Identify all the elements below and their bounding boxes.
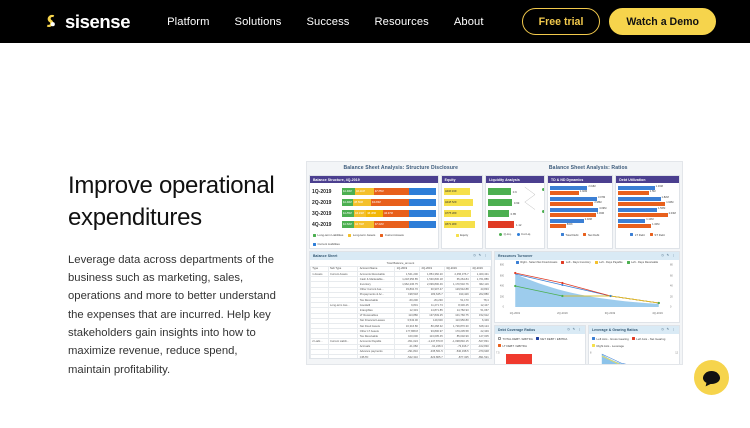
equity-legend: Equity	[442, 230, 482, 239]
legend-label: TOTAL DEBT / EBITDA	[503, 337, 533, 341]
legend-label: Q-Liq.	[504, 232, 512, 236]
segment-lt-liabilities: $1.49M	[342, 199, 353, 206]
structure-row: 4Q-2019 $1.54M $4.70M $7.43M	[312, 219, 436, 230]
nav-item-success[interactable]: Success	[306, 16, 349, 28]
axis-tick: 60	[670, 274, 673, 277]
axis-tick: 80	[670, 264, 673, 267]
legend-label: LT Debt	[635, 233, 645, 237]
bar-st-debt: 1.90M	[618, 202, 665, 206]
legend-item: Current Assets	[380, 233, 403, 237]
axis-tick: 0	[503, 306, 504, 309]
segment-current-liabilities	[409, 221, 435, 228]
dashboard-title-structure: Balance Sheet Analysis: Structure Disclo…	[307, 162, 495, 175]
equity-bar: $400.91K	[444, 188, 470, 195]
dashboard-screenshot: Balance Sheet Analysis: Structure Disclo…	[306, 161, 683, 365]
segment-lt-liabilities: $1.30M	[342, 188, 355, 195]
panel-title-text: Balance Sheet	[313, 254, 337, 258]
bar-label: 800K	[566, 223, 573, 226]
structure-row-label: 1Q-2019	[312, 189, 342, 195]
table-body: 1 AssetsCurrent AssetsAccounts Receivabl…	[311, 272, 491, 360]
panel-header-resources-turnover: Resources Turnover ◷ ✎ ⋮	[495, 252, 679, 259]
segment-current-assets: $3.08M	[371, 199, 409, 206]
nav-item-solutions[interactable]: Solutions	[235, 16, 282, 28]
panel-header-balance-structure: Balance Structure, 4Q-2019	[310, 176, 438, 183]
chat-bubble-icon	[703, 371, 720, 384]
structure-row-label: 4Q-2019	[312, 222, 342, 228]
hero-copy: Improve operational expenditures Leverag…	[68, 170, 283, 379]
td-nd-group: 2.0dM 1.92M	[550, 186, 610, 195]
table-cell: -542,310	[395, 355, 420, 360]
structure-row: 1Q-2019 $1.30M $4.21M $7.85M	[312, 186, 436, 197]
main-nav: Platform Solutions Success Resources Abo…	[167, 16, 484, 28]
equity-bar: $571.90K	[444, 221, 475, 228]
panel-toolbar-icons[interactable]: ◷ ✎ ⋮	[661, 328, 676, 332]
bar-label: 2.0dM	[587, 185, 595, 188]
legend-label: Cur.Liq.	[521, 232, 531, 236]
legend-label: Left - Days Receivable	[631, 261, 658, 264]
panel-resources-turnover[interactable]: Resources Turnover ◷ ✎ ⋮ Right - Select …	[494, 251, 680, 323]
legend-item: Left Axis - Net Gearing	[632, 337, 666, 341]
free-trial-button[interactable]: Free trial	[522, 8, 601, 35]
td-nd-group: 3.09M 3.03M	[550, 208, 610, 217]
legend-label: Total Debt	[565, 233, 578, 237]
bar-label: 1.30M	[651, 223, 659, 226]
segment-lt-liabilities: $1.54M	[342, 221, 354, 228]
bar-label: 1.13M	[645, 218, 653, 221]
legend-item: Cur.Liq.	[517, 232, 531, 236]
legend-item: Current Liabilities	[313, 242, 340, 246]
axis-tick: 600	[500, 274, 504, 277]
x-axis-label: 3Q-2019	[605, 312, 615, 315]
bar-total-debt: 3.07M	[550, 197, 597, 201]
structure-row: 3Q-2019 $1.88M $3.33M $6.38M $3.97M	[312, 208, 436, 219]
nav-item-resources[interactable]: Resources	[374, 16, 428, 28]
panel-debt-coverage-ratios[interactable]: Debt Coverage Ratios ◷ ✎ ⋮ TOTAL DEBT / …	[494, 325, 586, 365]
table-cell: -623,805.7	[420, 355, 445, 360]
structure-stacked-bar: $1.49M $5.50M $3.08M	[342, 199, 436, 206]
bar-label: 1.33M	[655, 185, 663, 188]
td-nd-groups: 2.0dM 1.92M 3.07M 2.98M 3.09M 3.03M 2.02…	[548, 183, 612, 230]
structure-stacked-bar: $1.88M $3.33M $6.38M $3.97M	[342, 210, 436, 217]
segment-current-liabilities	[409, 199, 435, 206]
bar-st-debt: 1.30M	[618, 224, 651, 228]
panel-toolbar-icons[interactable]: ◷ ✎ ⋮	[567, 328, 582, 332]
bar-label: 2.02M	[584, 218, 592, 221]
nav-item-about[interactable]: About	[454, 16, 484, 28]
structure-row-label: 2Q-2019	[312, 200, 342, 206]
panel-toolbar-icons[interactable]: ◷ ✎ ⋮	[661, 254, 676, 258]
bar-net-debt: 1.92M	[550, 191, 579, 195]
logo-wordmark: sisense	[65, 11, 130, 33]
legend-item: Right Axis - Leverage	[592, 344, 624, 348]
legend-label: Right - Select Net Fixed Assets	[520, 261, 557, 264]
structure-stacked-bar: $1.30M $4.21M $7.85M	[342, 188, 436, 195]
legend-item: Net Debt	[583, 233, 599, 237]
bar-lt-debt: 1.56M	[618, 208, 657, 212]
debt-util-group: 1.13M 1.30M	[618, 219, 677, 228]
liquidity-legend: Q-Liq. Cur.Liq.	[486, 229, 544, 238]
segment-lt-assets-a: $3.33M	[354, 210, 366, 217]
legend-label: Long-term Assets	[353, 233, 376, 237]
bar-label: 3.07M	[597, 196, 605, 199]
table-cell: -891,521	[470, 355, 490, 360]
hero-section: Improve operational expenditures Leverag…	[0, 43, 750, 428]
debt-util-group: 1.82M 1.90M	[618, 197, 677, 206]
legend-item: ST Debt	[650, 233, 665, 237]
structure-row-label: 3Q-2019	[312, 211, 342, 217]
x-axis-label: 4Q-2019	[652, 312, 662, 315]
panel-td-nd-dynamics[interactable]: TD & ND Dynamics 2.0dM 1.92M 3.07M 2.98M…	[547, 175, 613, 249]
chat-widget-button[interactable]	[694, 360, 729, 395]
structure-row: 2Q-2019 $1.49M $5.50M $3.08M	[312, 197, 436, 208]
segment-lt-assets: $5.50M	[353, 199, 371, 206]
y-axis-left: 800 600 400 200 0	[495, 265, 504, 307]
panel-title-text: Resources Turnover	[498, 254, 533, 258]
segment-current-assets: $3.97M	[383, 210, 409, 217]
equity-bar: $775.30K	[444, 210, 472, 217]
dashboard-bottom-pair: Debt Coverage Ratios ◷ ✎ ⋮ TOTAL DEBT / …	[494, 325, 680, 365]
structure-stacked-bar: $1.54M $4.70M $7.43M	[342, 221, 436, 228]
dashboard-title-ratios: Balance Sheet Analysis: Ratios	[495, 162, 683, 175]
panel-balance-sheet[interactable]: Balance Sheet ◷ ✎ ⋮ Total Balance_amount…	[309, 251, 492, 359]
leverage-plot: 8 12	[589, 351, 679, 365]
panel-header-debt-utilization: Debt Utilization	[616, 176, 679, 183]
debt-util-group: 1.33M 1.5M	[618, 186, 677, 195]
bar-label: 1.90M	[665, 201, 673, 204]
x-axis-label: 1Q-2019	[510, 312, 520, 315]
y-axis-right: 80 60 40 20 0	[670, 265, 679, 307]
table-cell	[311, 355, 329, 360]
liquidity-value: 1.12	[516, 223, 521, 227]
segment-lt-liabilities: $1.88M	[342, 210, 354, 217]
liquidity-point	[542, 188, 545, 191]
td-nd-legend: Total Debt Net Debt	[548, 230, 612, 239]
bar-net-debt: 3.03M	[550, 213, 596, 217]
debt-util-group: 1.56M 2.03M	[618, 208, 677, 217]
hero-body-text: Leverage data across departments of the …	[68, 251, 283, 379]
bar-label: 2.03M	[668, 212, 676, 215]
liquidity-rows: 0.9 48 0.99 36 0.85 25	[486, 183, 544, 229]
legend-item: Long-term Assets	[348, 233, 375, 237]
legend-item: Left - Days Receivable	[627, 261, 659, 264]
liquidity-bar	[488, 221, 514, 228]
nav-item-platform[interactable]: Platform	[167, 16, 209, 28]
panel-toolbar-icons[interactable]: ◷ ✎ ⋮	[473, 254, 488, 258]
panel-header-leverage: Leverage & Gearing Ratios ◷ ✎ ⋮	[589, 326, 679, 333]
legend-item: NET DEBT / EBITDA	[536, 337, 568, 341]
legend-item: Total Debt	[561, 233, 579, 237]
panel-header-equity: Equity	[442, 176, 482, 183]
x-axis-label: 2Q-2019	[557, 312, 567, 315]
bar-total-debt: 3.09M	[550, 208, 598, 212]
bar-lt-debt: 1.82M	[618, 197, 660, 201]
equity-row: $400.91K	[444, 186, 480, 197]
liquidity-row: 1.12 46	[488, 219, 542, 230]
site-header: sisense Platform Solutions Success Resou…	[0, 0, 750, 43]
legend-item: Left - Days Inventory	[561, 261, 590, 264]
leverage-legend: Left Axis - Gross Gearing Left Axis - Ne…	[589, 334, 679, 350]
liquidity-point	[542, 210, 545, 213]
bar-net-debt: 2.98M	[550, 202, 593, 206]
legend-label: Right Axis - Leverage	[597, 344, 624, 348]
balance-sheet-body: Total Balance_amount TypeSub TypeAccount…	[310, 260, 491, 360]
equity-bar: $438.52K	[444, 199, 473, 206]
segment-current-assets: $7.85M	[374, 188, 410, 195]
panel-debt-utilization[interactable]: Debt Utilization 1.33M 1.5M 1.82M 1.90M …	[615, 175, 680, 249]
dashboard-row-top: Balance Structure, 4Q-2019 1Q-2019 $1.30…	[307, 175, 682, 249]
equity-rows: $400.91K $438.52K $775.30K $571.90K	[442, 183, 482, 230]
segment-lt-assets: $4.70M	[354, 221, 374, 228]
bar-lt-debt: 1.13M	[618, 219, 645, 223]
legend-item: Q-Liq.	[499, 232, 511, 236]
bar-label: 2.98M	[593, 201, 601, 204]
segment-current-liabilities	[409, 210, 435, 217]
panel-header-td-nd: TD & ND Dynamics	[548, 176, 612, 183]
dashboard-titles: Balance Sheet Analysis: Structure Disclo…	[307, 162, 682, 175]
table-cell: -877,325	[445, 355, 471, 360]
debt-coverage-legend: TOTAL DEBT / EBITDA NET DEBT / EBITDA LT…	[495, 334, 585, 350]
balance-sheet-table: TypeSub TypeAccount Name1Q-20192Q-20193Q…	[310, 266, 491, 360]
legend-label: Left Axis - Gross Gearing	[597, 337, 629, 341]
equity-row: $571.90K	[444, 219, 480, 230]
turnover-series-svg	[505, 265, 669, 307]
axis-tick: 200	[500, 295, 504, 298]
axis-tick: 800	[500, 264, 504, 267]
bar-label: 1.92M	[579, 190, 587, 193]
legend-item: LT Debt	[630, 233, 645, 237]
axis-tick: 40	[670, 285, 673, 288]
panel-header-balance-sheet: Balance Sheet ◷ ✎ ⋮	[310, 252, 491, 259]
panel-leverage-gearing-ratios[interactable]: Leverage & Gearing Ratios ◷ ✎ ⋮ Left Axi…	[588, 325, 680, 365]
segment-lt-assets-b: $6.38M	[366, 210, 383, 217]
legend-item: Equity	[456, 233, 469, 237]
panel-balance-structure[interactable]: Balance Structure, 4Q-2019 1Q-2019 $1.30…	[309, 175, 439, 249]
legend-item: TOTAL DEBT / EBITDA	[498, 337, 533, 341]
legend-item: Left - Days Payable	[595, 261, 623, 264]
sisense-spiral-icon	[42, 12, 61, 31]
legend-label: Long-term Liabilities	[318, 233, 344, 237]
bar-st-debt: 1.5M	[618, 191, 649, 195]
debt-util-legend: LT Debt ST Debt	[616, 230, 679, 239]
bar-st-debt: 2.03M	[618, 213, 667, 217]
bar-net-debt: 800K	[550, 224, 566, 228]
panel-liquidity-analysis[interactable]: Liquidity Analysis 0.9 48 0.99	[485, 175, 545, 249]
panel-header-liquidity: Liquidity Analysis	[486, 176, 544, 183]
legend-item: Long-term Liabilities	[313, 233, 343, 237]
table-cell	[328, 355, 358, 360]
legend-label: Net Debt	[588, 233, 599, 237]
bar-label: 1.5M	[649, 190, 656, 193]
leverage-series-svg	[597, 351, 661, 365]
panel-title-text: Debt Coverage Ratios	[498, 328, 535, 332]
debt-util-groups: 1.33M 1.5M 1.82M 1.90M 1.56M 2.03M 1.13M…	[616, 183, 679, 230]
axis-tick: 0	[670, 306, 671, 309]
legend-label: Left - Days Payable	[599, 261, 622, 264]
structure-rows: 1Q-2019 $1.30M $4.21M $7.85M 2Q-2019 $1.…	[310, 183, 438, 230]
legend-label: NET DEBT / EBITDA	[540, 337, 567, 341]
segment-current-assets: $7.43M	[374, 221, 410, 228]
axis-tick: 400	[500, 285, 504, 288]
td-nd-group: 2.02M 800K	[550, 219, 610, 228]
header-actions: Free trial Watch a Demo	[522, 8, 716, 35]
td-nd-group: 3.07M 2.98M	[550, 197, 610, 206]
axis-tick: 20	[670, 295, 673, 298]
segment-current-liabilities	[409, 188, 435, 195]
axis-tick-right: 12	[675, 351, 678, 354]
equity-row: $775.30K	[444, 208, 480, 219]
dashboard-row-bottom: Balance Sheet ◷ ✎ ⋮ Total Balance_amount…	[307, 251, 682, 365]
watch-demo-button[interactable]: Watch a Demo	[609, 8, 716, 35]
legend-label: LT DEBT / EBITDA	[503, 344, 527, 348]
legend-label: Current Liabilities	[318, 242, 340, 246]
table-cell: CPLTD	[358, 355, 395, 360]
bar-label: 3.09M	[598, 207, 606, 210]
dashboard-right-column: Resources Turnover ◷ ✎ ⋮ Right - Select …	[494, 251, 680, 365]
segment-lt-assets: $4.21M	[355, 188, 374, 195]
legend-item: LT DEBT / EBITDA	[498, 344, 527, 348]
panel-header-debt-coverage: Debt Coverage Ratios ◷ ✎ ⋮	[495, 326, 585, 333]
panel-equity[interactable]: Equity $400.91K $438.52K $775.30K $571.9…	[441, 175, 483, 249]
equity-row: $438.52K	[444, 197, 480, 208]
liquidity-connector-line	[486, 183, 544, 214]
table-row[interactable]: CPLTD-542,310-623,805.7-877,325-891,521	[311, 355, 491, 360]
turnover-plot: 800 600 400 200 0 80 60 40 20 0	[505, 265, 669, 315]
legend-label: Equity	[460, 233, 468, 237]
legend-item: Right - Select Net Fixed Assets	[516, 261, 558, 264]
bar-label: 1.56M	[657, 207, 665, 210]
debt-coverage-plot: 7.5	[495, 351, 585, 365]
bar-label: 1.82M	[661, 196, 669, 199]
legend-label: ST Debt	[654, 233, 665, 237]
page-title: Improve operational expenditures	[68, 170, 283, 234]
structure-legend: Long-term Liabilities Long-term Assets C…	[310, 230, 438, 248]
legend-label: Left - Days Inventory	[566, 261, 591, 264]
bar-label: 3.03M	[596, 212, 604, 215]
panel-title-text: Leverage & Gearing Ratios	[592, 328, 638, 332]
legend-label: Current Assets	[385, 233, 404, 237]
debt-coverage-bar	[506, 354, 532, 365]
legend-label: Left Axis - Net Gearing	[636, 337, 665, 341]
sisense-logo[interactable]: sisense	[42, 11, 130, 33]
legend-item: Left Axis - Gross Gearing	[592, 337, 629, 341]
